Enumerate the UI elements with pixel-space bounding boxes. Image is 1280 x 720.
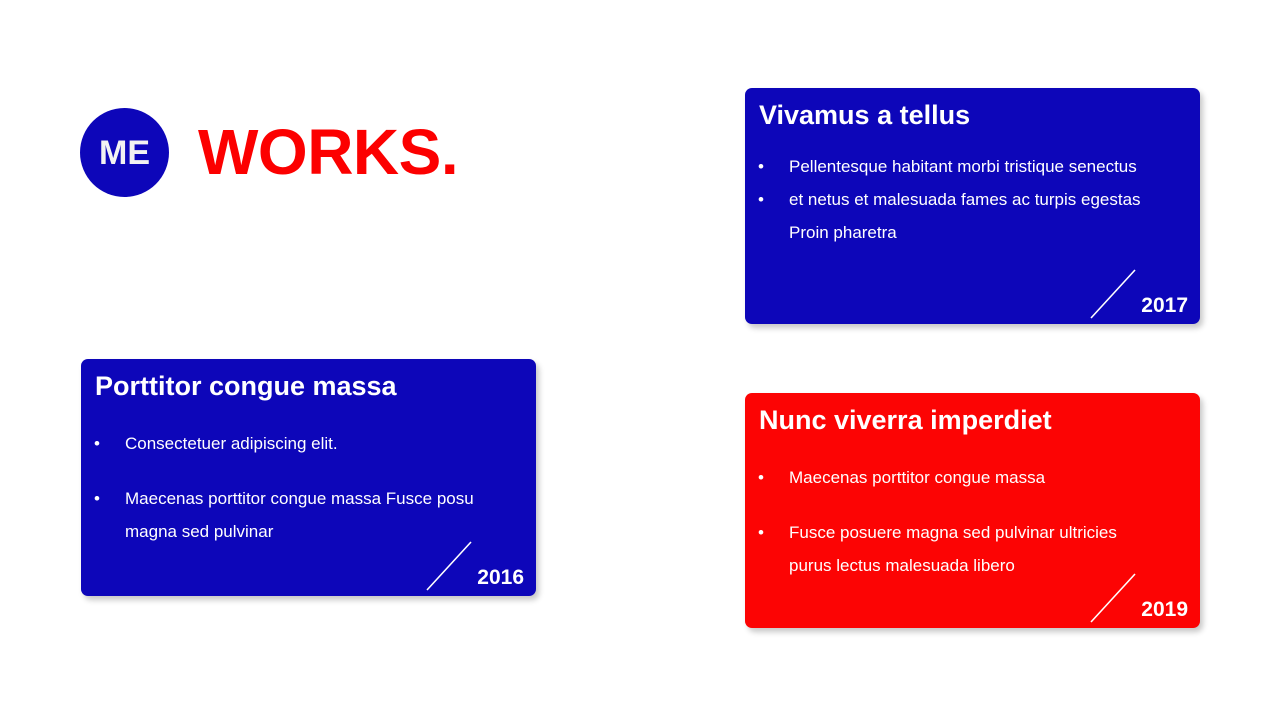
card-year-badge: 2016 [477, 567, 524, 588]
card-content: Nunc viverra imperdiet • Maecenas portti… [745, 393, 1200, 628]
diagonal-slash-icon [1089, 268, 1137, 320]
brand-logo-circle: ME [80, 108, 169, 197]
list-item-line: Consectetuer adipiscing elit. [125, 427, 536, 460]
brand-logo-initials: ME [99, 136, 150, 170]
card-title: Vivamus a tellus [759, 99, 970, 133]
list-item-line: Maecenas porttitor congue massa Fusce po… [125, 482, 536, 515]
list-item-line: Maecenas porttitor congue massa [789, 461, 1200, 494]
list-item: • Consectetuer adipiscing elit. [81, 427, 536, 460]
bullet-icon: • [758, 150, 764, 183]
list-item: • Maecenas porttitor congue massa [745, 461, 1200, 494]
card-bullet-list: • Pellentesque habitant morbi tristique … [745, 150, 1200, 249]
bullet-icon: • [94, 482, 100, 515]
bullet-icon: • [758, 516, 764, 549]
card-title: Porttitor congue massa [95, 370, 397, 404]
timeline-card-nunc[interactable]: Nunc viverra imperdiet • Maecenas portti… [745, 393, 1200, 628]
card-content: Porttitor congue massa • Consectetuer ad… [81, 359, 536, 596]
card-bullet-list: • Maecenas porttitor congue massa • Fusc… [745, 461, 1200, 582]
list-item: • Fusce posuere magna sed pulvinar ultri… [745, 516, 1200, 582]
bullet-icon: • [94, 427, 100, 460]
bullet-icon: • [758, 461, 764, 494]
timeline-card-vivamus[interactable]: Vivamus a tellus • Pellentesque habitant… [745, 88, 1200, 324]
list-item-line: magna sed pulvinar [125, 515, 536, 548]
card-year-badge: 2019 [1141, 599, 1188, 620]
list-item-line: Fusce posuere magna sed pulvinar ultrici… [789, 516, 1200, 549]
brand-logo: ME WORKS. [80, 108, 500, 200]
card-bullet-list: • Consectetuer adipiscing elit. • Maecen… [81, 427, 536, 548]
card-title: Nunc viverra imperdiet [759, 404, 1052, 438]
list-item-line: et netus et malesuada fames ac turpis eg… [789, 183, 1200, 216]
brand-wordmark: WORKS. [198, 120, 458, 184]
list-item: • Maecenas porttitor congue massa Fusce … [81, 482, 536, 548]
list-item-line: Proin pharetra [789, 216, 1200, 249]
timeline-card-porttitor[interactable]: Porttitor congue massa • Consectetuer ad… [81, 359, 536, 596]
list-item: • Pellentesque habitant morbi tristique … [745, 150, 1200, 183]
card-year-badge: 2017 [1141, 295, 1188, 316]
list-item-line: Pellentesque habitant morbi tristique se… [789, 150, 1200, 183]
list-item: • et netus et malesuada fames ac turpis … [745, 183, 1200, 249]
list-item-line: purus lectus malesuada libero [789, 549, 1200, 582]
bullet-icon: • [758, 183, 764, 216]
card-content: Vivamus a tellus • Pellentesque habitant… [745, 88, 1200, 324]
